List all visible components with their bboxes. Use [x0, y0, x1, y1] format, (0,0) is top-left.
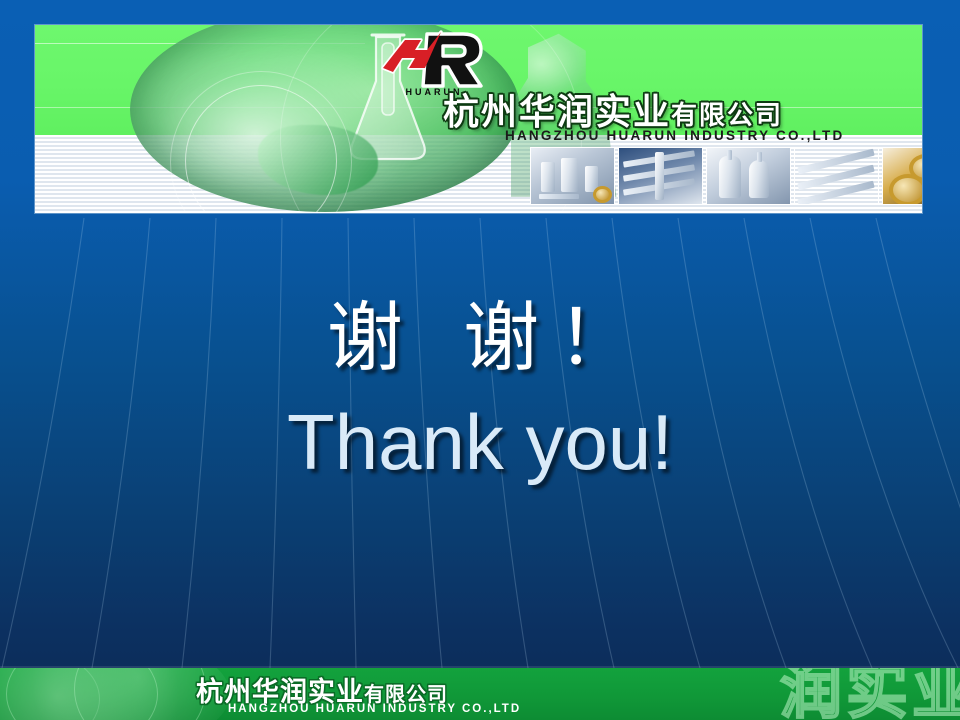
product-thumb-pump-spray-bottles: [530, 147, 615, 205]
product-thumb-pipettes-and-applicators: [618, 147, 703, 205]
footer-globe-ring: [0, 668, 100, 720]
footer-watermark-text: 润实业: [780, 668, 960, 720]
product-thumb-prefilled-syringes: [794, 147, 879, 205]
banner-company-suffix: 有限公司: [671, 101, 783, 131]
footer-company-name-en: HANGZHOU HUARUN INDUSTRY CO.,LTD: [228, 703, 521, 715]
thank-you-chinese: 谢 谢！: [0, 296, 960, 380]
banner-company-name-main: 杭州华润实业: [443, 92, 671, 133]
thank-you-english: Thank you!: [0, 400, 960, 486]
footer-bar: 润实业 杭州华润实业有限公司 HANGZHOU HUARUN INDUSTRY …: [0, 668, 960, 720]
banner-company-name-en: HANGZHOU HUARUN INDUSTRY CO.,LTD: [505, 128, 844, 143]
product-thumb-amber-glass-jars: [882, 147, 922, 205]
slide-canvas: HUARUN 杭州华润实业有限公司 HANGZHOU HUARUN INDUST…: [0, 0, 960, 720]
product-thumb-plastic-dropper-bottles: [706, 147, 791, 205]
product-thumbnail-strip: [530, 147, 922, 205]
header-banner: HUARUN 杭州华润实业有限公司 HANGZHOU HUARUN INDUST…: [35, 25, 922, 213]
